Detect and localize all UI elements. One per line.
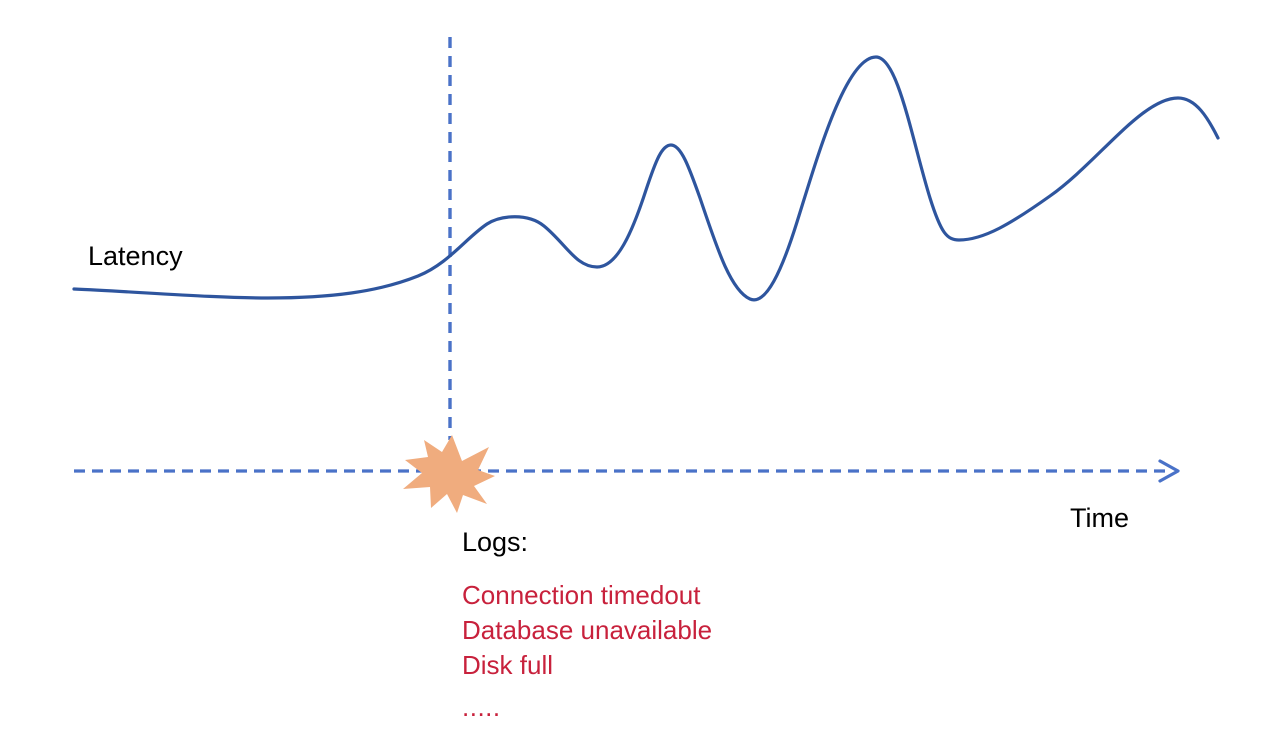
x-axis-label: Time — [1070, 505, 1129, 532]
logs-heading: Logs: — [462, 529, 528, 556]
log-message: Database unavailable — [462, 613, 712, 648]
log-message: Disk full — [462, 648, 712, 683]
y-axis-label: Latency — [88, 243, 183, 270]
log-message-list: Connection timedout Database unavailable… — [462, 578, 712, 683]
log-ellipsis: ..... — [462, 694, 501, 720]
log-message: Connection timedout — [462, 578, 712, 613]
latency-curve — [74, 57, 1218, 300]
starburst-icon — [403, 435, 495, 513]
diagram-canvas: Latency Time Logs: Connection timedout D… — [0, 0, 1276, 744]
